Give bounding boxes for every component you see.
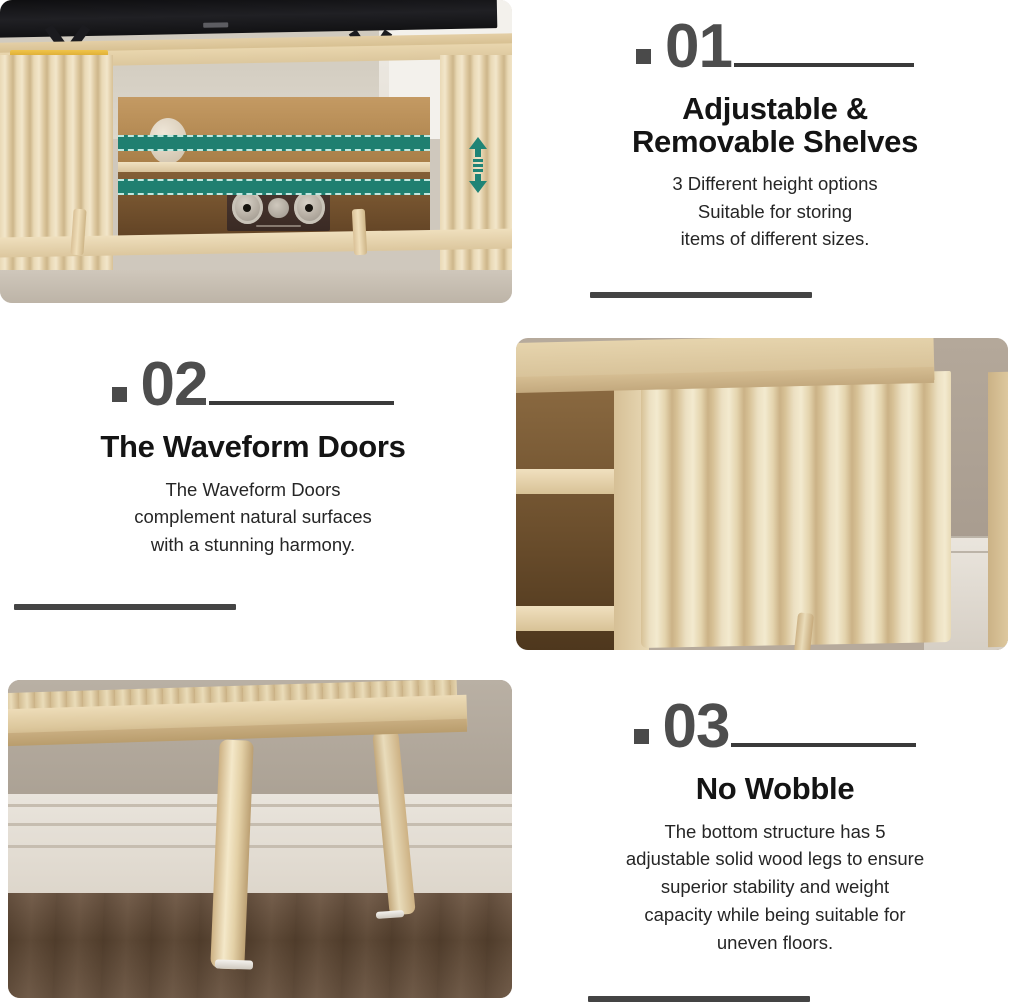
feature-03-heading-line1: No Wobble bbox=[540, 773, 1010, 805]
feature-03-heading: No Wobble bbox=[540, 773, 1010, 805]
feature-03-body-line3: superior stability and weight bbox=[540, 873, 1010, 901]
feature-03-divider-bar bbox=[588, 996, 810, 1002]
feature-02-number-row: 02 bbox=[18, 358, 488, 411]
feature-01-body-line3: items of different sizes. bbox=[540, 225, 1010, 253]
feature-03-body-line4: capacity while being suitable for bbox=[540, 901, 1010, 929]
woofer-dustcap-left bbox=[243, 204, 251, 212]
feature-03-body-line2: adjustable solid wood legs to ensure bbox=[540, 845, 1010, 873]
shelf-highlight-lower bbox=[118, 179, 430, 195]
solid-wood-legs-photo bbox=[8, 680, 512, 998]
feature-03-body-line5: uneven floors. bbox=[540, 929, 1010, 957]
feature-02-body-line1: The Waveform Doors bbox=[18, 476, 488, 504]
feature-01-heading-line2: Removable Shelves bbox=[540, 126, 1010, 158]
tv-logo-badge bbox=[203, 23, 228, 29]
number-underline-rule bbox=[209, 401, 394, 405]
feature-01-number: 01 bbox=[665, 20, 732, 73]
cabinet-leg-left bbox=[70, 209, 86, 256]
fluted-waveform-door bbox=[641, 371, 951, 648]
floor-protector-pad-back bbox=[376, 910, 404, 919]
feature-02-number: 02 bbox=[141, 358, 208, 411]
floor-protector-pad-front bbox=[214, 959, 252, 969]
feature-02-heading: The Waveform Doors bbox=[18, 431, 488, 463]
feature-01-heading-line1: Adjustable & bbox=[540, 93, 1010, 125]
feature-03-number: 03 bbox=[663, 700, 730, 753]
feature-03-body: The bottom structure has 5 adjustable so… bbox=[540, 818, 1010, 957]
infographic-page: 01 Adjustable & Removable Shelves 3 Diff… bbox=[0, 0, 1024, 1006]
number-bullet-icon bbox=[636, 49, 651, 64]
feature-01-body-line1: 3 Different height options bbox=[540, 170, 1010, 198]
floor-grain-texture bbox=[8, 893, 512, 998]
shelf-highlight-upper bbox=[118, 135, 430, 151]
feature-03-number-row: 03 bbox=[540, 700, 1010, 753]
waveform-door-photo bbox=[516, 338, 1008, 650]
cabinet-body bbox=[0, 55, 512, 273]
speaker-woofer-right bbox=[294, 191, 325, 224]
number-underline-rule bbox=[734, 63, 914, 67]
feature-02-text: 02 The Waveform Doors The Waveform Doors… bbox=[18, 358, 488, 559]
side-cavity-bottom bbox=[516, 606, 629, 631]
feature-03-body-line1: The bottom structure has 5 bbox=[540, 818, 1010, 846]
woofer-dustcap-right bbox=[305, 204, 313, 212]
side-cavity-shelf bbox=[516, 469, 629, 494]
speaker-tweeter bbox=[268, 198, 289, 218]
feature-02-body-line3: with a stunning harmony. bbox=[18, 531, 488, 559]
feature-01-divider-bar bbox=[590, 292, 812, 298]
number-bullet-icon bbox=[634, 729, 649, 744]
feature-02-body-line2: complement natural surfaces bbox=[18, 503, 488, 531]
wainscot-molding-line-mid bbox=[8, 823, 512, 826]
number-bullet-icon bbox=[112, 387, 127, 402]
open-shelf-bay bbox=[118, 97, 430, 245]
feature-02-heading-line1: The Waveform Doors bbox=[18, 431, 488, 463]
wainscot-molding-line-low bbox=[8, 845, 512, 848]
speaker-brand-label bbox=[256, 225, 301, 228]
feature-01-body-line2: Suitable for storing bbox=[540, 198, 1010, 226]
feature-01-body: 3 Different height options Suitable for … bbox=[540, 170, 1010, 253]
feature-01-number-row: 01 bbox=[540, 20, 1010, 73]
number-underline-rule bbox=[731, 743, 916, 747]
feature-02-body: The Waveform Doors complement natural su… bbox=[18, 476, 488, 559]
speaker-woofer-left bbox=[232, 191, 263, 224]
feature-03-text: 03 No Wobble The bottom structure has 5 … bbox=[540, 700, 1010, 956]
adjustable-shelves-photo bbox=[0, 0, 512, 303]
feature-01-heading: Adjustable & Removable Shelves bbox=[540, 93, 1010, 157]
floor-surface bbox=[0, 270, 512, 303]
middle-shelf-board bbox=[118, 162, 430, 172]
shelf-adjust-arrow-icon bbox=[467, 137, 489, 193]
door-right-edge bbox=[988, 372, 1008, 647]
feature-02-divider-bar bbox=[14, 604, 236, 610]
wainscot-molding-line-top bbox=[8, 804, 512, 807]
feature-01-text: 01 Adjustable & Removable Shelves 3 Diff… bbox=[540, 20, 1010, 253]
cabinet-leg-right bbox=[352, 209, 367, 256]
